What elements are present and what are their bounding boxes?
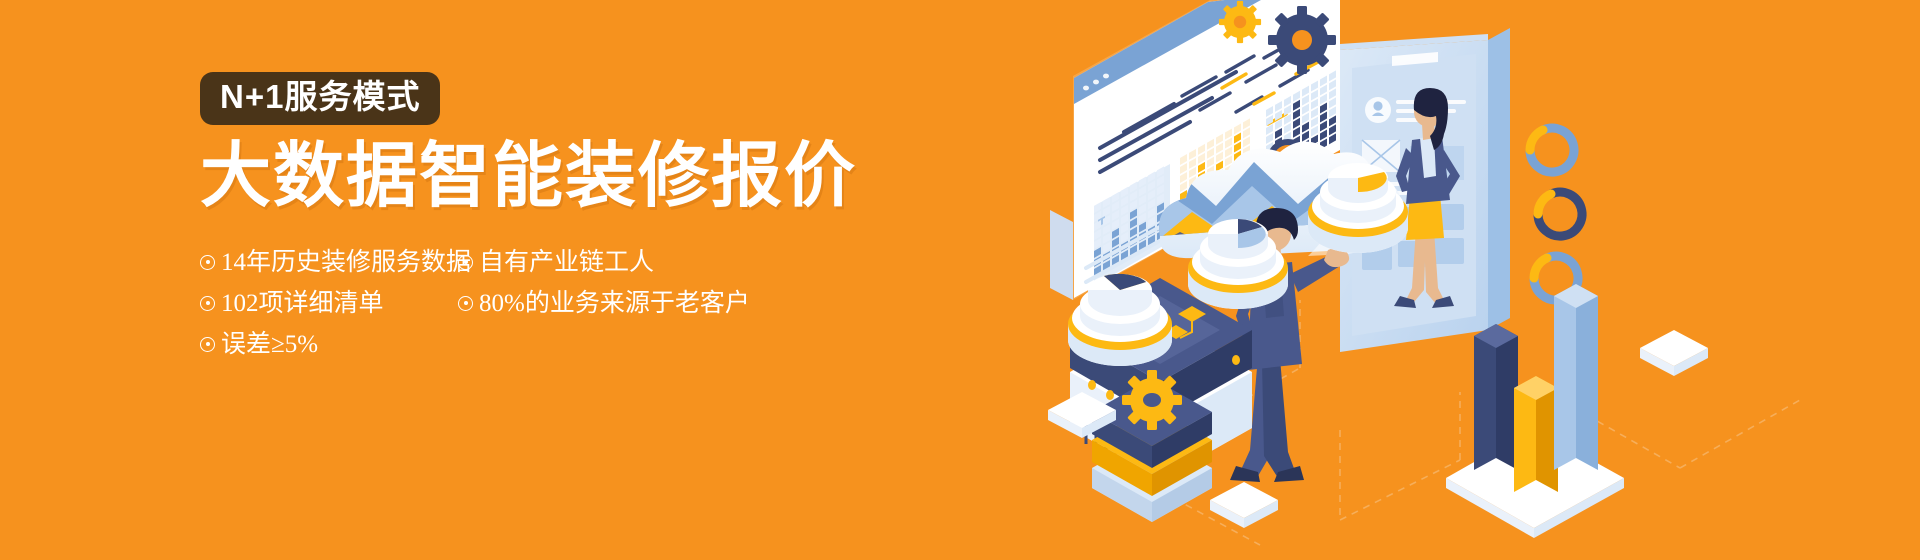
list-item: 自有产业链工人 [458,242,788,283]
service-model-badge: N+1服务模式 [200,72,440,125]
bullet-column-right: 自有产业链工人 80%的业务来源于老客户 [458,242,788,365]
circled-dot-icon [200,296,215,311]
list-item: 102项详细清单 [200,283,458,324]
list-item: 80%的业务来源于老客户 [458,283,788,324]
list-item-label: 自有产业链工人 [479,250,654,275]
circled-dot-icon [458,296,473,311]
list-item-label: 80%的业务来源于老客户 [479,291,750,316]
circled-dot-icon [458,255,473,270]
list-item: 误差≥5% [200,324,458,365]
bullet-column-left: 14年历史装修服务数据 102项详细清单 误差≥5% [200,242,458,365]
circular-arrow-rings [1530,128,1582,300]
banner-text-block: N+1服务模式 大数据智能装修报价 14年历史装修服务数据 102项详细清单 误… [200,72,960,365]
list-item-label: 14年历史装修服务数据 [221,250,471,275]
circled-dot-icon [200,337,215,352]
feature-bullet-list: 14年历史装修服务数据 102项详细清单 误差≥5% 自有产业链工人 [200,242,960,365]
list-item-label: 误差≥5% [221,332,318,357]
page-title: 大数据智能装修报价 [200,139,960,216]
circled-dot-icon [200,255,215,270]
gear-icon-small [1219,1,1261,43]
list-item-label: 102项详细清单 [221,291,384,316]
gear-icon-large [1268,6,1336,74]
marketing-banner: N+1服务模式 大数据智能装修报价 14年历史装修服务数据 102项详细清单 误… [0,0,1920,560]
isometric-illustration [1040,0,1920,560]
list-item: 14年历史装修服务数据 [200,242,458,283]
